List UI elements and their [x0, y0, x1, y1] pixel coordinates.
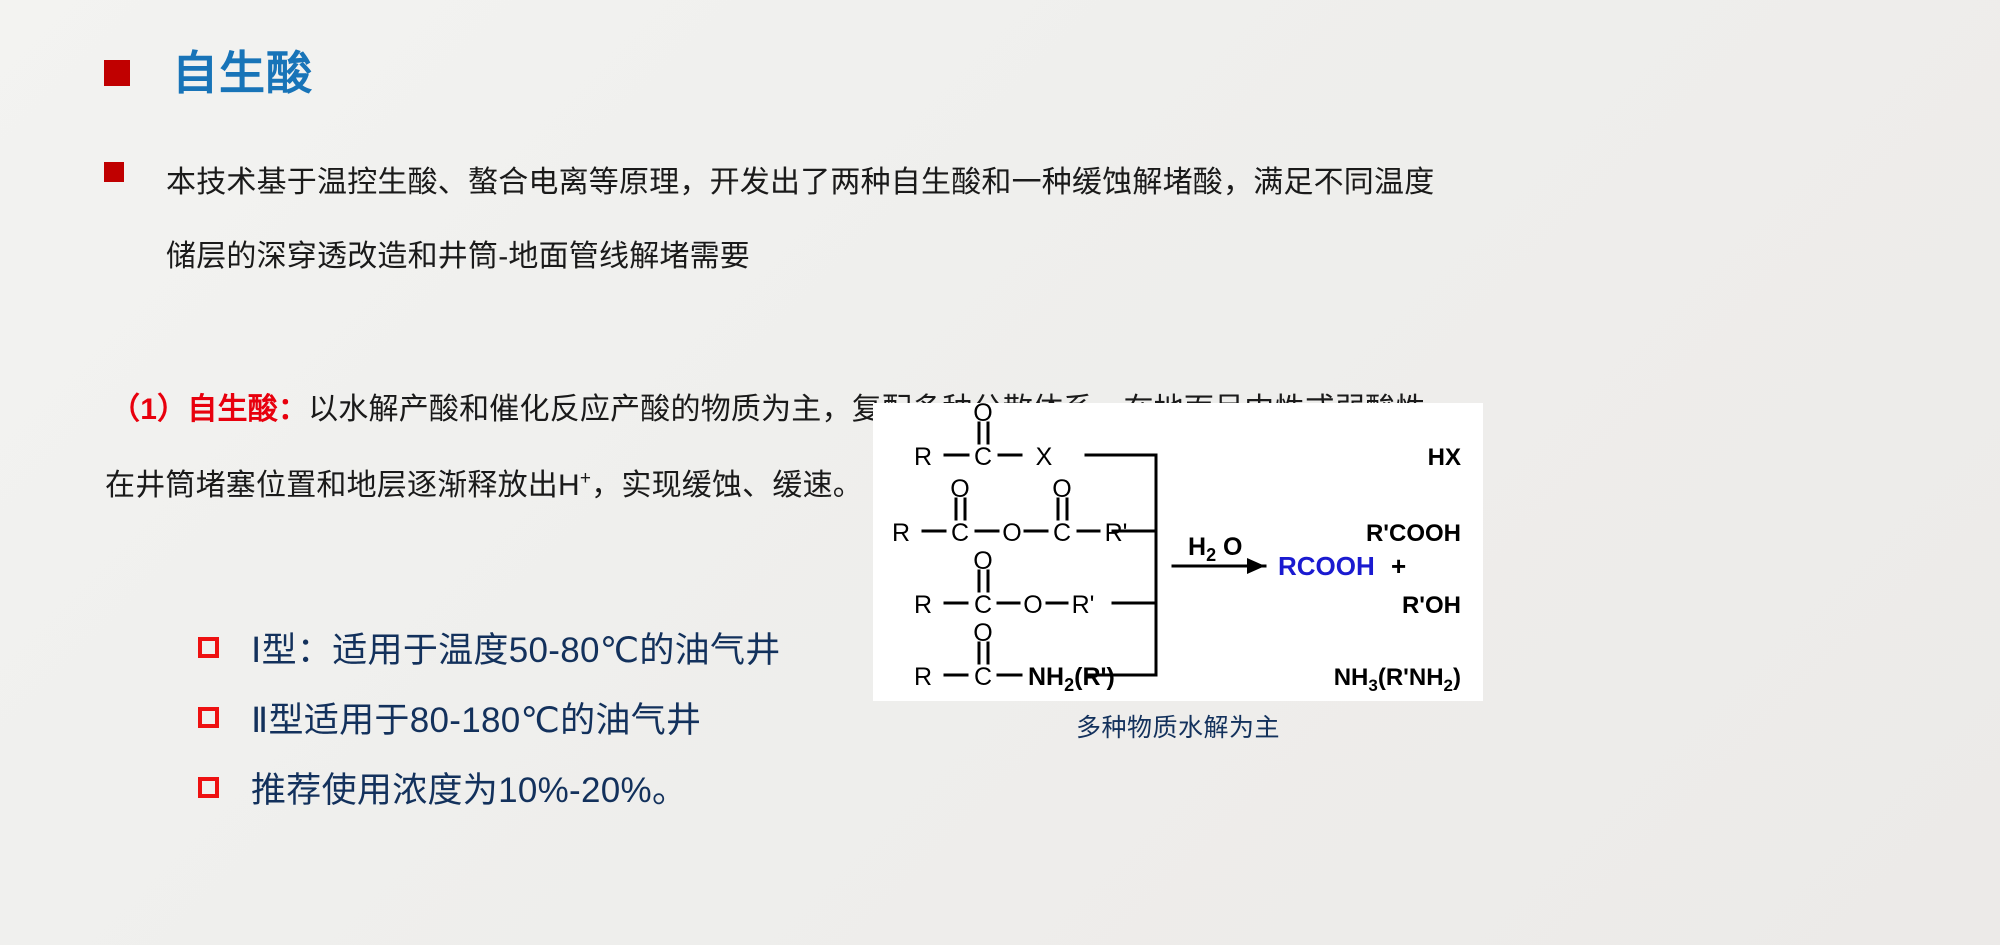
list-item-label: 推荐使用浓度为10%-20%。: [251, 762, 687, 813]
section-line-2-before: 在井筒堵塞位置和地层逐渐释放出H: [105, 469, 580, 502]
reaction-scheme-svg: R C X O R C O C R' O O R C O R' O R: [873, 403, 1483, 701]
intro-paragraph: 本技术基于温控生酸、螯合电离等原理，开发出了两种自生酸和一种缓蚀解堵酸，满足不同…: [104, 146, 1504, 294]
list-item: Ⅱ型适用于80-180℃的油气井: [198, 686, 781, 748]
atom-label-O: O: [1023, 591, 1042, 619]
atom-label-O: O: [950, 475, 969, 503]
product-label-RCOOH: RCOOH: [1278, 551, 1375, 581]
spec-checklist: Ⅰ型：适用于温度50-80℃的油气井 Ⅱ型适用于80-180℃的油气井 推荐使用…: [198, 616, 781, 826]
atom-label-O: O: [973, 403, 992, 427]
intro-line-1: 本技术基于温控生酸、螯合电离等原理，开发出了两种自生酸和一种缓蚀解堵酸，满足不同…: [166, 146, 1504, 220]
atom-label-O: O: [1002, 519, 1021, 547]
atom-label-C: C: [974, 591, 992, 619]
section-number: （1）: [110, 393, 187, 426]
section-line-2-after: ，实现缓蚀、缓速。: [591, 469, 863, 502]
atom-label-Rprime: R': [1072, 591, 1095, 619]
product-label-HX: HX: [1428, 444, 1461, 471]
red-hollow-square-bullet-icon: [198, 637, 219, 658]
page-title: 自生酸: [172, 50, 313, 96]
atom-label-C: C: [974, 443, 992, 471]
atom-label-Rprime: R': [1105, 519, 1128, 547]
product-label-RprimeCOOH: R'COOH: [1366, 520, 1461, 547]
figure-caption: 多种物质水解为主: [873, 700, 1483, 744]
section-name: 自生酸：: [187, 393, 308, 426]
atom-label-C: C: [1053, 519, 1071, 547]
red-square-bullet-icon: [104, 60, 130, 86]
red-hollow-square-bullet-icon: [198, 707, 219, 728]
atom-label-R: R: [914, 663, 932, 691]
atom-label-R: R: [914, 591, 932, 619]
red-square-bullet-icon: [104, 162, 124, 182]
atom-label-O: O: [973, 547, 992, 575]
intro-line-2: 储层的深穿透改造和井筒-地面管线解堵需要: [166, 220, 1504, 294]
atom-label-O: O: [1052, 475, 1071, 503]
atom-label-C: C: [974, 663, 992, 691]
atom-label-C: C: [951, 519, 969, 547]
atom-label-R: R: [914, 443, 932, 471]
product-label-RprimeOH: R'OH: [1402, 592, 1461, 619]
slide-canvas: 自生酸 本技术基于温控生酸、螯合电离等原理，开发出了两种自生酸和一种缓蚀解堵酸，…: [0, 0, 2000, 945]
plus-sign: +: [1391, 551, 1406, 581]
list-item: Ⅰ型：适用于温度50-80℃的油气井: [198, 616, 781, 678]
atom-label-O: O: [973, 619, 992, 647]
reagent-label-water: H2 O: [1188, 533, 1242, 565]
product-label-NH3RprimeNH2: NH3(R'NH2): [1334, 664, 1461, 695]
atom-label-R: R: [892, 519, 910, 547]
hydrolysis-reaction-figure: R C X O R C O C R' O O R C O R' O R: [873, 403, 1483, 701]
superscript-plus: +: [580, 468, 591, 489]
arrow-head-icon: [1247, 558, 1265, 574]
list-item-label: Ⅰ型：适用于温度50-80℃的油气井: [251, 622, 781, 673]
slide-title: 自生酸: [104, 50, 313, 96]
atom-label-NH2Rprime: NH2(R'): [1028, 663, 1115, 695]
red-hollow-square-bullet-icon: [198, 777, 219, 798]
atom-label-X: X: [1036, 443, 1053, 471]
list-item-label: Ⅱ型适用于80-180℃的油气井: [251, 692, 701, 743]
list-item: 推荐使用浓度为10%-20%。: [198, 756, 781, 818]
